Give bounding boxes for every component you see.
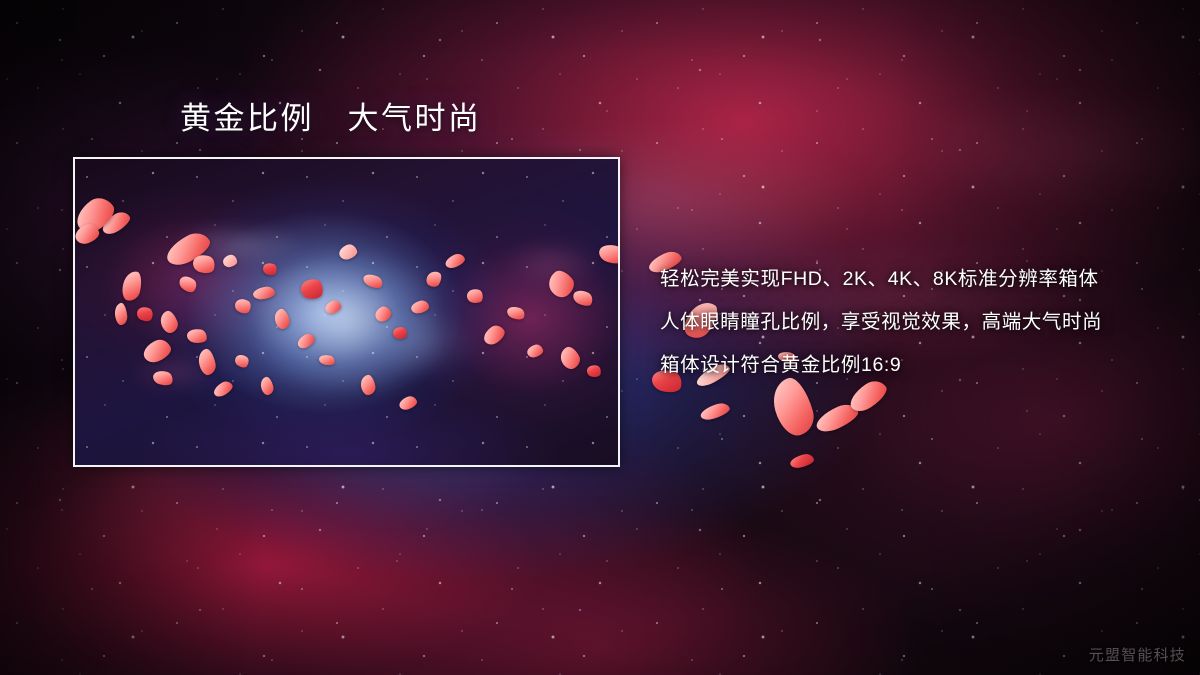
body-line-3: 箱体设计符合黄金比例16:9 xyxy=(660,344,1160,387)
body-line-2: 人体眼睛瞳孔比例，享受视觉效果，高端大气时尚 xyxy=(660,301,1160,344)
rose-petal xyxy=(699,401,732,423)
photo-background xyxy=(75,159,618,465)
slide-headline: 黄金比例 大气时尚 xyxy=(180,99,482,139)
body-line-1: 轻松完美实现FHD、2K、4K、8K标准分辨率箱体 xyxy=(660,258,1160,301)
slide-body-copy: 轻松完美实现FHD、2K、4K、8K标准分辨率箱体 人体眼睛瞳孔比例，享受视觉效… xyxy=(660,258,1160,387)
presentation-slide: 黄金比例 大气时尚 轻松完美实现FHD、2K、4K、8K标准分辨率箱体 人体眼睛… xyxy=(0,0,1200,675)
company-watermark: 元盟智能科技 xyxy=(1089,644,1186,665)
rose-petal xyxy=(789,452,815,469)
galaxy-photo-frame xyxy=(73,157,620,467)
